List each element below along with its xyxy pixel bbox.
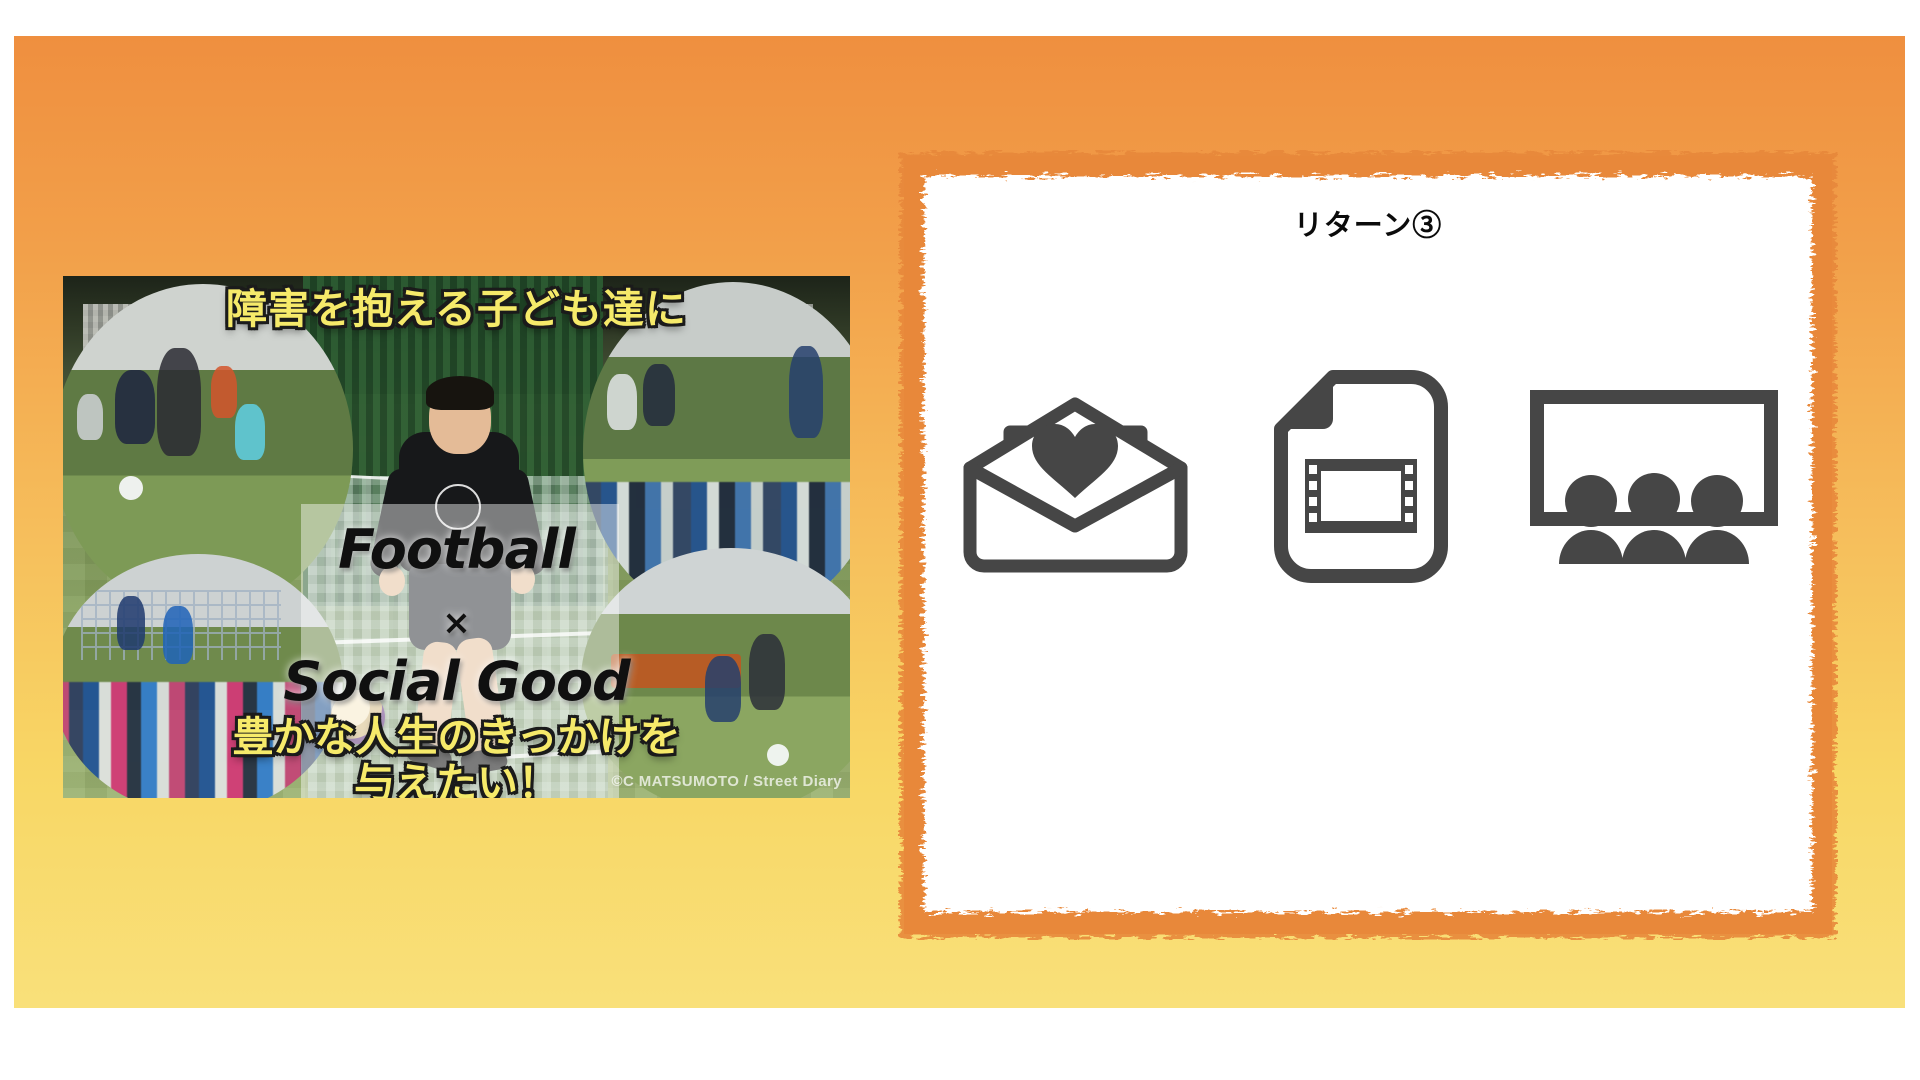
screening-audience-icon [1529, 389, 1779, 564]
project-photo-collage: 障害を抱える子ども達に Football × Social Good 豊かな人生… [63, 276, 850, 798]
athlete-hair [426, 376, 494, 410]
photo-overlay-title-cross: × [63, 606, 850, 642]
ball-blob [119, 476, 143, 500]
return-card: リターン③ [898, 150, 1838, 940]
person-blob [115, 370, 155, 444]
person-blob [77, 394, 103, 440]
letter-heart-icon [958, 374, 1193, 579]
photo-watermark: ©C MATSUMOTO / Street Diary [612, 773, 843, 790]
photo-overlay-title-social: Social Good [63, 654, 850, 711]
person-blob [643, 364, 675, 426]
return-icon-row [898, 346, 1838, 606]
person-blob [211, 366, 237, 418]
coach-blob [789, 346, 823, 438]
photo-overlay-title-football: Football [63, 522, 850, 579]
person-blob [607, 374, 637, 430]
card-title: リターン③ [898, 202, 1838, 244]
slide-canvas: 障害を抱える子ども達に Football × Social Good 豊かな人生… [0, 0, 1920, 1080]
photo-overlay-tagline-line1: 豊かな人生のきっかけを [63, 716, 850, 759]
audience-group [1559, 473, 1749, 564]
person-blob [235, 404, 265, 460]
video-file-icon [1271, 369, 1451, 584]
person-blob [157, 348, 201, 456]
photo-overlay-headline: 障害を抱える子ども達に [63, 288, 850, 331]
